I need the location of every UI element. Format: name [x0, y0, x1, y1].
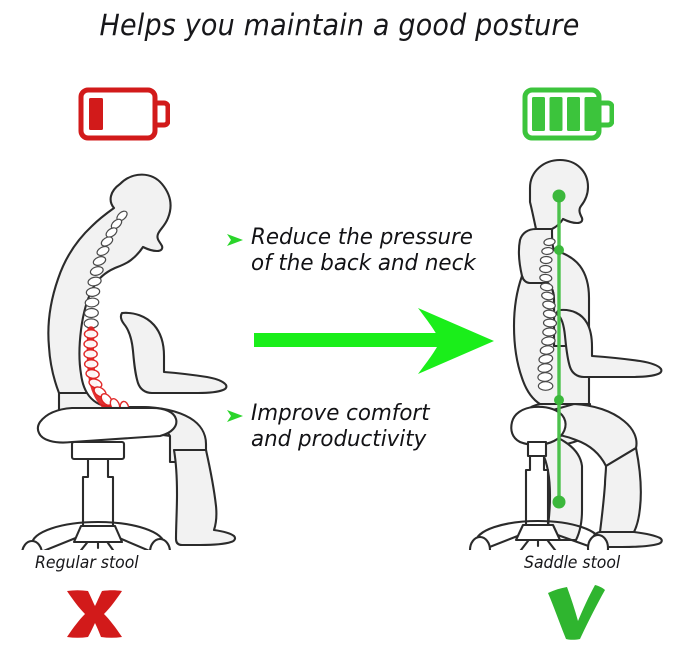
benefit-item-2: Improve comfort and productivity	[226, 400, 439, 453]
caption-regular-stool: Regular stool	[35, 553, 139, 572]
benefit-text-1-line2: of the back and neck	[251, 250, 476, 276]
benefit-item-1: Reduce the pressure of the back and neck	[226, 224, 488, 277]
caption-saddle-stool: Saddle stool	[524, 553, 620, 572]
benefit-text-2: Improve comfort and productivity	[251, 400, 430, 453]
benefit-text-1: Reduce the pressure of the back and neck	[251, 224, 476, 277]
regular-stool-illustration	[2, 150, 237, 554]
triangle-bullet-icon	[226, 232, 244, 251]
triangle-bullet-icon	[226, 408, 244, 427]
benefit-text-1-line1: Reduce the pressure	[251, 224, 473, 250]
benefit-text-2-line1: Improve comfort	[251, 400, 430, 426]
saddle-stool-illustration	[468, 150, 678, 554]
infographic-root: Helps you maintain a good posture	[0, 0, 679, 646]
right-arrow-icon	[250, 296, 498, 390]
check-mark-icon	[545, 583, 607, 645]
benefit-text-2-line2: and productivity	[251, 426, 430, 452]
page-title: Helps you maintain a good posture	[24, 8, 655, 42]
battery-full-icon	[522, 86, 614, 146]
battery-low-icon	[78, 86, 170, 146]
cross-mark-icon	[62, 588, 126, 644]
